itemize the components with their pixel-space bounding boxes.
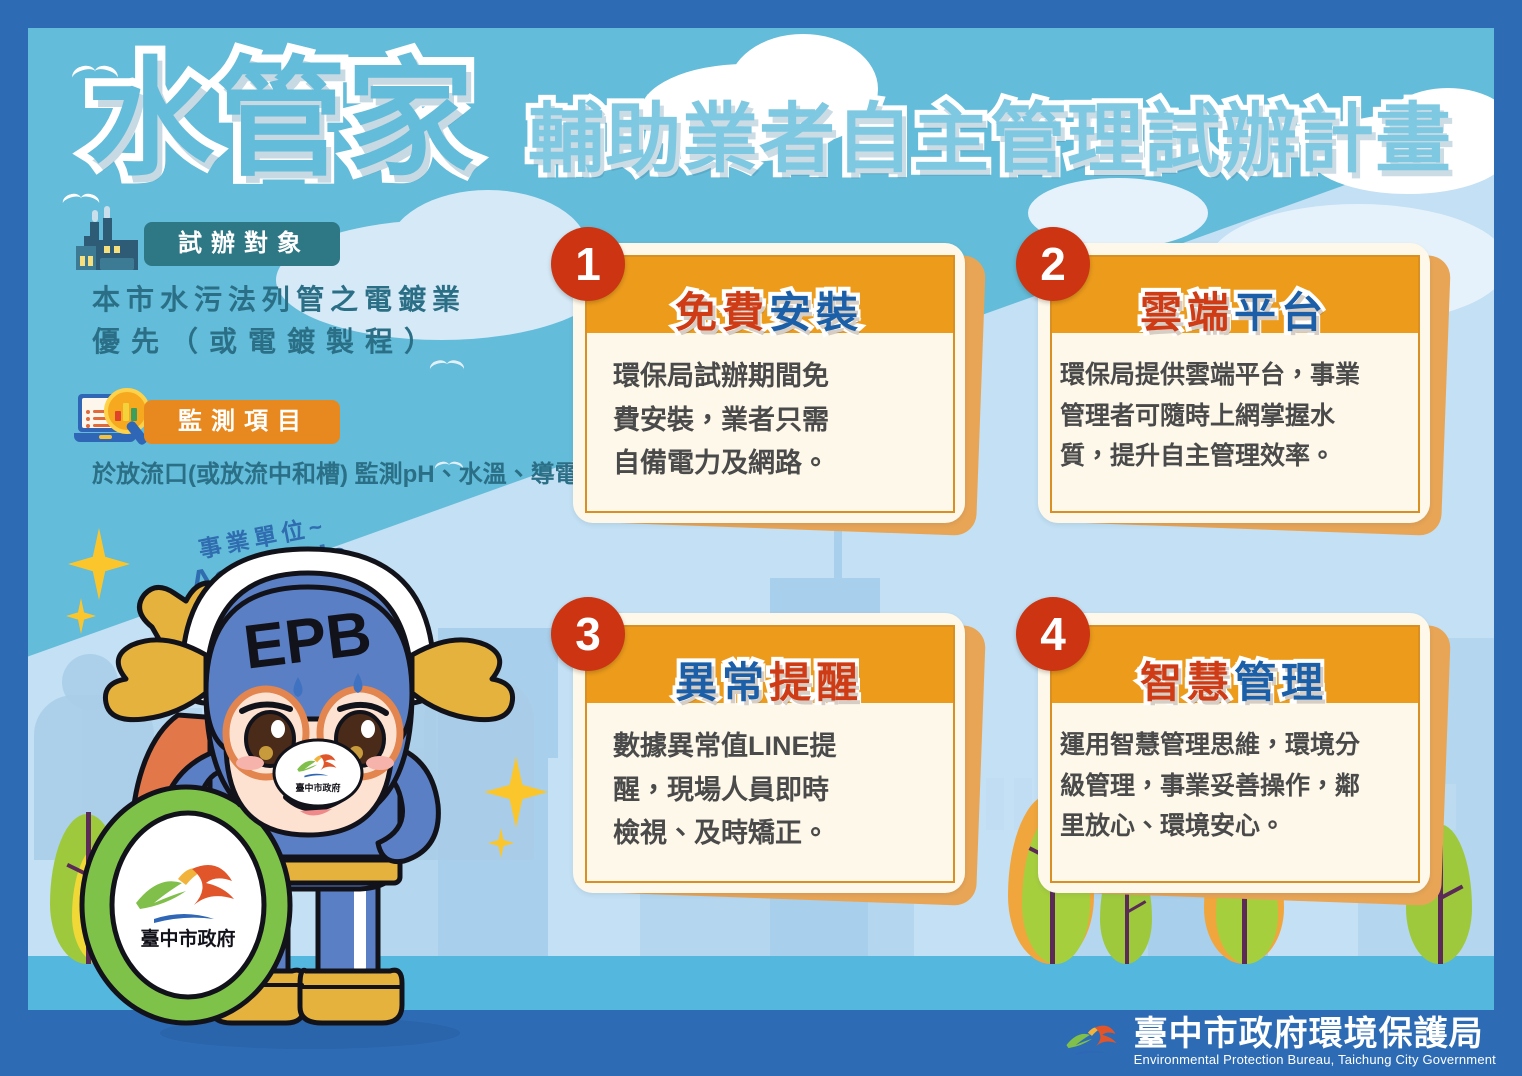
monitoring-pill-label: 監測項目 — [144, 400, 340, 444]
card-3-title: 異常提醒 — [573, 649, 965, 710]
card-4-number-badge: 4 — [1016, 597, 1090, 671]
card-3-body: 數據異常值LINE提 醒，現場人員即時 檢視、及時矯正。 — [613, 725, 933, 856]
card-1-title-red: 免費 — [675, 289, 769, 336]
card-3-body-line-1: 數據異常值LINE提 — [613, 725, 933, 769]
target-line-1: 本市水污法列管之電鍍業 — [92, 280, 568, 320]
feature-card-2[interactable]: 雲端平台 環保局提供雲端平台，事業 管理者可隨時上網掌握水 質，提升自主管理效率… — [1038, 243, 1440, 529]
card-2-title: 雲端平台 — [1038, 279, 1430, 340]
card-1-body: 環保局試辦期間免 費安裝，業者只需 自備電力及網路。 — [613, 355, 933, 486]
factory-icon — [76, 210, 142, 272]
page-title: 水管家 — [86, 56, 476, 184]
card-4-title-red: 智慧 — [1140, 659, 1234, 706]
card-3-title-red: 提醒 — [769, 659, 863, 706]
feature-card-3[interactable]: 異常提醒 數據異常值LINE提 醒，現場人員即時 檢視、及時矯正。 3 — [573, 613, 975, 899]
card-4-title: 智慧管理 — [1038, 649, 1430, 710]
card-2-title-red: 雲端 — [1140, 289, 1234, 336]
footer-org-en: Environmental Protection Bureau, Taichun… — [1134, 1053, 1496, 1067]
card-3-body-line-3: 檢視、及時矯正。 — [613, 812, 933, 856]
card-4-body: 運用智慧管理思維，環境分 級管理，事業妥善操作，鄰 里放心、環境安心。 — [1060, 725, 1416, 847]
card-2-body-line-1: 環保局提供雲端平台，事業 — [1060, 355, 1416, 396]
card-1-title: 免費安裝 — [573, 279, 965, 340]
shield-logo-text: 臺中市政府 — [140, 927, 235, 950]
poster-footer: 臺中市政府環境保護局 Environmental Protection Bure… — [0, 1010, 1522, 1076]
card-4-body-line-3: 里放心、環境安心。 — [1060, 806, 1416, 847]
card-3-number-badge: 3 — [551, 597, 625, 671]
target-line-2: 優先（或電鍍製程） — [92, 322, 568, 362]
page-subtitle: 輔助業者自主管理試辦計畫 — [528, 102, 1452, 178]
feature-card-4[interactable]: 智慧管理 運用智慧管理思維，環境分 級管理，事業妥善操作，鄰 里放心、環境安心。… — [1038, 613, 1440, 899]
mascot-water-guardian: EPB 臺中市政府 臺中市政府 — [60, 505, 490, 1050]
poster-title-group: 水管家 輔助業者自主管理試辦計畫 — [28, 28, 1494, 243]
target-pill-label: 試辦對象 — [144, 222, 340, 266]
card-1-body-line-2: 費安裝，業者只需 — [613, 399, 933, 443]
left-info-column: 試辦對象 本市水污法列管之電鍍業 優先（或電鍍製程） — [68, 218, 568, 492]
card-2-body-line-2: 管理者可隨時上網掌握水 — [1060, 396, 1416, 437]
card-4-title-blue: 管理 — [1234, 659, 1328, 706]
card-1-body-line-3: 自備電力及網路。 — [613, 442, 933, 486]
card-3-body-line-2: 醒，現場人員即時 — [613, 769, 933, 813]
card-1-body-line-1: 環保局試辦期間免 — [613, 355, 933, 399]
card-2-title-blue: 平台 — [1234, 289, 1328, 336]
card-3-title-blue: 異常 — [675, 659, 769, 706]
footer-org-zh: 臺中市政府環境保護局 — [1134, 1017, 1496, 1053]
taichung-city-logo-icon — [1062, 1019, 1124, 1065]
card-4-body-line-1: 運用智慧管理思維，環境分 — [1060, 725, 1416, 766]
card-2-number-badge: 2 — [1016, 227, 1090, 301]
card-2-body-line-3: 質，提升自主管理效率。 — [1060, 436, 1416, 477]
target-tag-row: 試辦對象 — [68, 218, 568, 274]
card-2-body: 環保局提供雲端平台，事業 管理者可隨時上網掌握水 質，提升自主管理效率。 — [1060, 355, 1416, 477]
card-1-number-badge: 1 — [551, 227, 625, 301]
card-1-title-blue: 安裝 — [769, 289, 863, 336]
monitoring-tag-row: 監測項目 — [68, 396, 568, 452]
footer-logo-group: 臺中市政府環境保護局 Environmental Protection Bure… — [1062, 1014, 1496, 1070]
feature-card-1[interactable]: 免費安裝 環保局試辦期間免 費安裝，業者只需 自備電力及網路。 1 — [573, 243, 975, 529]
laptop-chart-icon — [74, 390, 148, 452]
poster-root: 水管家 輔助業者自主管理試辦計畫 — [0, 0, 1522, 1076]
chest-logo-text: 臺中市政府 — [295, 782, 340, 794]
card-4-body-line-2: 級管理，事業妥善操作，鄰 — [1060, 766, 1416, 807]
monitoring-line-1: 於放流口(或放流中和槽) 監測pH、水溫、導電度 — [92, 458, 568, 492]
